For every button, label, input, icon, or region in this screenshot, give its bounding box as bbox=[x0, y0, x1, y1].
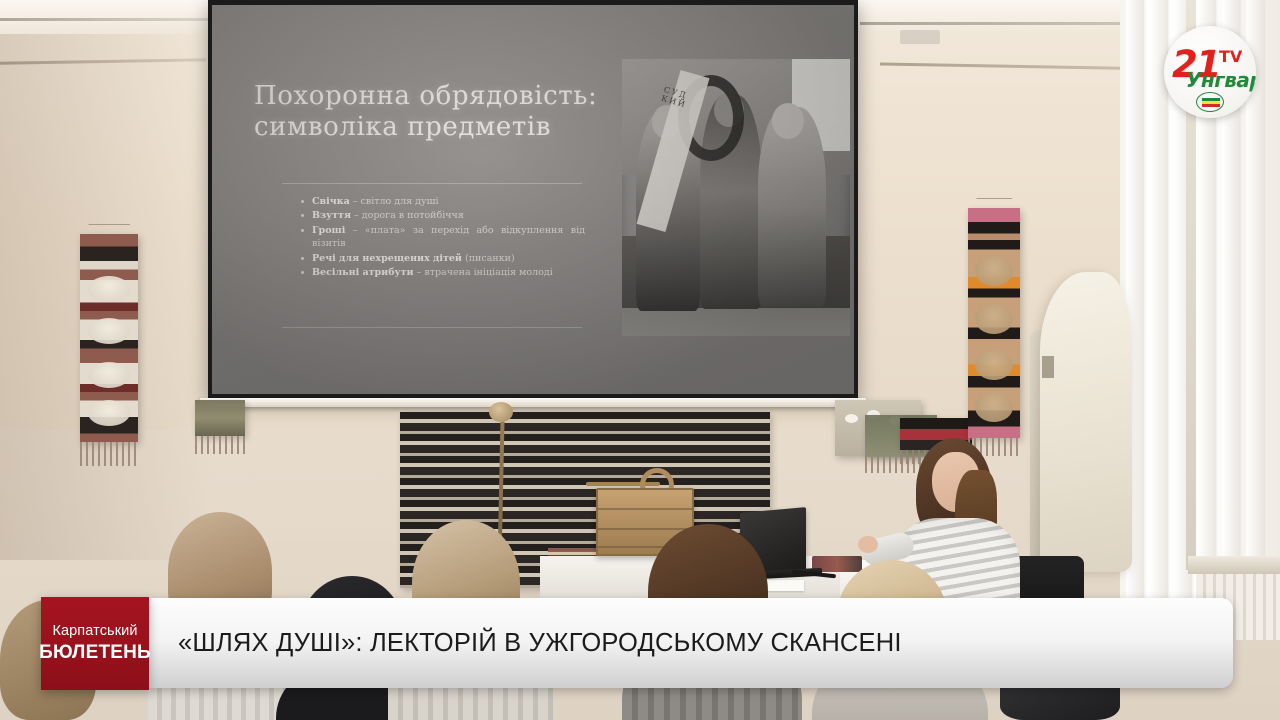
screen-bottom-bar bbox=[200, 398, 866, 407]
bullet-text: – втрачена ініціація молоді bbox=[414, 267, 553, 278]
window-sill bbox=[1188, 556, 1280, 574]
sheep-motif bbox=[845, 414, 858, 423]
woolen-cloak bbox=[1040, 272, 1132, 572]
bullet-term: Речі для нехрещених дітей bbox=[312, 253, 462, 264]
slide-bullet-list: Свічка – світло для душі Взуття – дорога… bbox=[300, 195, 585, 281]
bullet-text: (писанки) bbox=[462, 253, 515, 264]
tapestry-motif bbox=[88, 400, 130, 426]
tapestry-motif bbox=[975, 350, 1013, 380]
projected-slide: Похоронна обрядовість: символіка предмет… bbox=[212, 5, 854, 394]
bullet-term: Взуття bbox=[312, 210, 351, 221]
lower-third-banner: «ШЛЯХ ДУШІ»: ЛЕКТОРІЙ В УЖГОРОДСЬКОМУ СК… bbox=[148, 598, 1233, 688]
program-badge-line1: Карпатський bbox=[52, 624, 137, 640]
tapestry-cord bbox=[976, 198, 1012, 208]
lecturer-hand bbox=[858, 536, 878, 553]
tapestry-cord bbox=[88, 224, 130, 234]
tapestry-fringe bbox=[195, 436, 245, 454]
broadcast-frame: Похоронна обрядовість: символіка предмет… bbox=[0, 0, 1280, 720]
crate-slat bbox=[598, 508, 692, 510]
ceiling-fixture bbox=[900, 30, 940, 44]
list-item: Речі для нехрещених дітей (писанки) bbox=[300, 252, 585, 265]
tapestry-motif bbox=[975, 304, 1013, 334]
tapestry-motif bbox=[975, 392, 1013, 422]
slide-title-line1: Похоронна обрядовість: bbox=[254, 81, 624, 112]
channel-logo: 21 TV Унгвар bbox=[1164, 26, 1256, 118]
list-item: Взуття – дорога в потойбіччя bbox=[300, 209, 585, 222]
slide-divider bbox=[282, 183, 582, 184]
crate-slat bbox=[598, 528, 692, 530]
tapestry-motif bbox=[975, 256, 1013, 286]
tapestry-fringe bbox=[80, 442, 138, 466]
bullet-text: – дорога в потойбіччя bbox=[351, 210, 464, 221]
tapestry-motif bbox=[88, 362, 130, 388]
bullet-text: – «плата» за перехід або відкуплення від… bbox=[312, 225, 585, 249]
projection-screen: Похоронна обрядовість: символіка предмет… bbox=[208, 0, 858, 398]
tapestry-motif bbox=[88, 276, 130, 302]
distaff-flax-bundle bbox=[489, 402, 513, 422]
list-item: Гроші – «плата» за перехід або відкуплен… bbox=[300, 224, 585, 251]
woven-textile-green-left bbox=[195, 400, 245, 436]
program-badge: Карпатський БЮЛЕТЕНЬ bbox=[41, 597, 149, 690]
photo-figure-head bbox=[772, 103, 804, 139]
woven-tapestry-left bbox=[80, 234, 138, 442]
photo-snow bbox=[622, 308, 850, 336]
slide-title: Похоронна обрядовість: символіка предмет… bbox=[254, 81, 624, 143]
cloak-tag bbox=[1042, 356, 1054, 378]
coat-of-arms-emblem-icon bbox=[1196, 92, 1224, 112]
slide-archival-photo: СУД КИЙ bbox=[622, 59, 850, 336]
slide-title-line2: символіка предметів bbox=[254, 112, 624, 143]
channel-city-label: Унгвар bbox=[1186, 70, 1256, 90]
tapestry-motif bbox=[88, 318, 130, 344]
slide-divider bbox=[282, 327, 582, 328]
woven-tapestry-right bbox=[968, 208, 1020, 438]
program-badge-line2: БЮЛЕТЕНЬ bbox=[39, 642, 151, 664]
bullet-term: Свічка bbox=[312, 196, 350, 207]
channel-tv-label: TV bbox=[1219, 49, 1242, 65]
list-item: Свічка – світло для душі bbox=[300, 195, 585, 208]
bullet-text: – світло для душі bbox=[350, 196, 439, 207]
bullet-term: Гроші bbox=[312, 225, 345, 236]
list-item: Весільні атрибути – втрачена ініціація м… bbox=[300, 266, 585, 279]
headline-text: «ШЛЯХ ДУШІ»: ЛЕКТОРІЙ В УЖГОРОДСЬКОМУ СК… bbox=[178, 629, 902, 658]
window-blind-slat bbox=[1150, 0, 1168, 600]
bullet-term: Весільні атрибути bbox=[312, 267, 414, 278]
paper-label bbox=[762, 580, 804, 591]
ceiling-beam bbox=[0, 18, 210, 21]
